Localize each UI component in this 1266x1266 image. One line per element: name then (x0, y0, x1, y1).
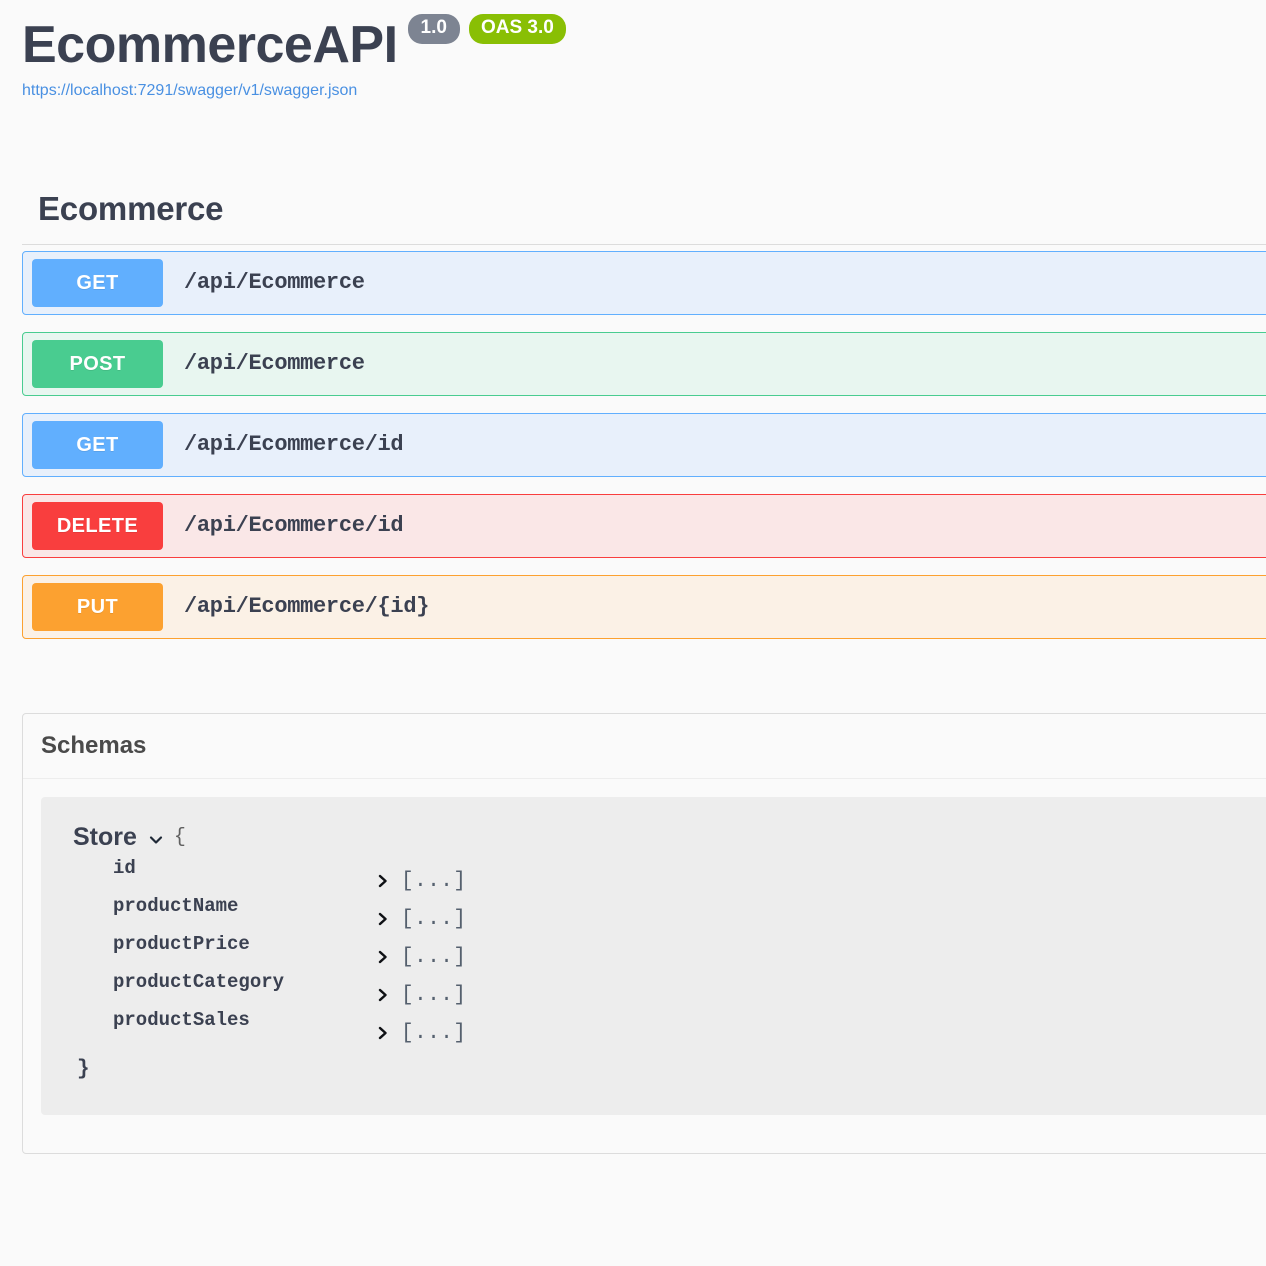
api-title-row: EcommerceAPI 1.0 OAS 3.0 (22, 18, 1244, 73)
api-version-badge: 1.0 (408, 14, 460, 44)
model-property-row: productName [...] (41, 892, 1266, 930)
operation-row-put-api-ecommerce-id[interactable]: PUT /api/Ecommerce/{id} (22, 575, 1266, 639)
property-name: productPrice (113, 930, 250, 958)
operation-row-get-api-ecommerce-id[interactable]: GET /api/Ecommerce/id (22, 413, 1266, 477)
method-badge-post: POST (32, 340, 163, 388)
property-value[interactable]: [...] (376, 946, 467, 969)
model-name: Store (73, 823, 137, 852)
chevron-right-icon[interactable] (376, 949, 390, 965)
model-property-list: id [...] productName (41, 854, 1266, 1044)
property-value[interactable]: [...] (376, 984, 467, 1007)
schemas-title: Schemas (41, 732, 1266, 760)
chevron-right-icon[interactable] (376, 911, 390, 927)
schemas-body: Store { id (23, 779, 1266, 1153)
model-title-row[interactable]: Store { (41, 823, 1266, 852)
api-info-block: EcommerceAPI 1.0 OAS 3.0 https://localho… (0, 0, 1266, 100)
swagger-spec-url-link[interactable]: https://localhost:7291/swagger/v1/swagge… (22, 82, 1244, 100)
property-collapsed-value: [...] (401, 984, 467, 1007)
model-property-row: productCategory [...] (41, 968, 1266, 1006)
model-store: Store { id (41, 797, 1266, 1115)
property-value[interactable]: [...] (376, 870, 467, 893)
chevron-right-icon[interactable] (376, 1025, 390, 1041)
model-close-brace: } (41, 1058, 1266, 1081)
property-collapsed-value: [...] (401, 908, 467, 931)
swagger-ui-page: EcommerceAPI 1.0 OAS 3.0 https://localho… (0, 0, 1266, 1266)
chevron-right-icon[interactable] (376, 873, 390, 889)
operation-path: /api/Ecommerce/id (184, 432, 403, 457)
operation-row-post-api-ecommerce[interactable]: POST /api/Ecommerce (22, 332, 1266, 396)
chevron-right-icon[interactable] (376, 987, 390, 1003)
model-property-row: id [...] (41, 854, 1266, 892)
model-property-row: productSales [...] (41, 1006, 1266, 1044)
chevron-down-icon[interactable] (148, 832, 164, 848)
operation-row-delete-api-ecommerce-id[interactable]: DELETE /api/Ecommerce/id (22, 494, 1266, 558)
property-name: productCategory (113, 968, 284, 996)
property-name: productSales (113, 1006, 250, 1034)
method-badge-get: GET (32, 421, 163, 469)
schemas-header[interactable]: Schemas (23, 714, 1266, 779)
tag-title[interactable]: Ecommerce (38, 190, 1244, 228)
operation-path: /api/Ecommerce (184, 351, 365, 376)
property-name: productName (113, 892, 238, 920)
property-collapsed-value: [...] (401, 870, 467, 893)
operations-list: GET /api/Ecommerce POST /api/Ecommerce G… (22, 251, 1266, 639)
property-name: id (113, 854, 136, 882)
property-collapsed-value: [...] (401, 1022, 467, 1045)
operation-row-get-api-ecommerce[interactable]: GET /api/Ecommerce (22, 251, 1266, 315)
page-title: EcommerceAPI (22, 18, 398, 73)
schemas-panel: Schemas Store { (22, 713, 1266, 1154)
property-collapsed-value: [...] (401, 946, 467, 969)
schemas-section: Schemas Store { (0, 713, 1266, 1154)
method-badge-delete: DELETE (32, 502, 163, 550)
tag-divider (22, 244, 1266, 245)
property-value[interactable]: [...] (376, 908, 467, 931)
tag-section-ecommerce: Ecommerce GET /api/Ecommerce POST /api/E… (0, 190, 1266, 639)
method-badge-put: PUT (32, 583, 163, 631)
operation-path: /api/Ecommerce (184, 270, 365, 295)
property-value[interactable]: [...] (376, 1022, 467, 1045)
model-property-row: productPrice [...] (41, 930, 1266, 968)
method-badge-get: GET (32, 259, 163, 307)
model-open-brace: { (174, 826, 186, 849)
operation-path: /api/Ecommerce/id (184, 513, 403, 538)
oas-version-badge: OAS 3.0 (469, 14, 566, 44)
operation-path: /api/Ecommerce/{id} (184, 594, 429, 619)
